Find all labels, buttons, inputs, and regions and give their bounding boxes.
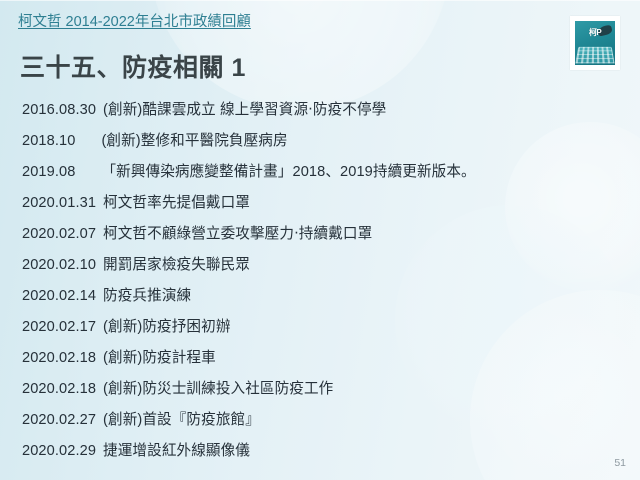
breadcrumb-link[interactable]: 柯文哲 2014-2022年台北市政績回顧 <box>18 13 251 31</box>
logo-image: 柯P <box>575 21 615 65</box>
bullet-text: 柯文哲率先提倡戴口罩 <box>103 195 250 211</box>
bullet-text: (創新)整修和平醫院負壓病房 <box>101 133 287 149</box>
bullet-date: 2020.02.18 <box>22 350 96 366</box>
logo-mark-text: 柯P <box>582 28 608 46</box>
bullet-date: 2018.10 <box>22 133 75 149</box>
bullet-date: 2020.02.14 <box>22 288 96 304</box>
bullet-text: (創新)酷課雲成立 線上學習資源‧防疫不停學 <box>103 102 386 118</box>
bullet-date: 2019.08 <box>22 164 75 180</box>
bullet-date: 2020.02.07 <box>22 226 96 242</box>
bullet-date: 2020.02.17 <box>22 319 96 335</box>
bullet-date: 2020.02.29 <box>22 443 96 459</box>
bullet-item: 2020.02.17(創新)防疫抒困初辦 <box>22 312 582 343</box>
bullet-text: (創新)防疫計程車 <box>103 350 216 366</box>
bullet-item: 2020.02.14防疫兵推演練 <box>22 281 582 312</box>
bullet-text: 「新興傳染病應變整備計畫」2018、2019持續更新版本。 <box>101 164 475 180</box>
bullet-text: (創新)防災士訓練投入社區防疫工作 <box>103 381 333 397</box>
bullet-text: 捷運增設紅外線顯像儀 <box>103 443 250 459</box>
bullet-item: 2020.02.27(創新)首設『防疫旅館』 <box>22 405 582 436</box>
bullet-item: 2020.02.10開罰居家檢疫失聯民眾 <box>22 250 582 281</box>
bullet-list: 2016.08.30(創新)酷課雲成立 線上學習資源‧防疫不停學2018.10(… <box>22 95 582 467</box>
bullet-text: (創新)首設『防疫旅館』 <box>103 412 260 428</box>
keyboard-icon <box>575 47 614 63</box>
bullet-item: 2020.02.07柯文哲不顧綠營立委攻擊壓力‧持續戴口罩 <box>22 219 582 250</box>
bullet-text: 開罰居家檢疫失聯民眾 <box>103 257 250 273</box>
bullet-date: 2020.02.10 <box>22 257 96 273</box>
top-divider <box>0 0 640 1</box>
bullet-date: 2016.08.30 <box>22 102 96 118</box>
page-title: 三十五、防疫相關 1 <box>20 52 246 84</box>
bullet-item: 2020.02.18(創新)防疫計程車 <box>22 343 582 374</box>
bullet-item: 2020.01.31柯文哲率先提倡戴口罩 <box>22 188 582 219</box>
bullet-date: 2020.02.18 <box>22 381 96 397</box>
slide-canvas: 柯文哲 2014-2022年台北市政績回顧 柯P 三十五、防疫相關 1 2016… <box>0 0 640 480</box>
bullet-date: 2020.02.27 <box>22 412 96 428</box>
bullet-item: 2016.08.30(創新)酷課雲成立 線上學習資源‧防疫不停學 <box>22 95 582 126</box>
bullet-item: 2019.08「新興傳染病應變整備計畫」2018、2019持續更新版本。 <box>22 157 582 188</box>
logo-badge: 柯P <box>570 16 620 70</box>
bullet-text: 柯文哲不顧綠營立委攻擊壓力‧持續戴口罩 <box>103 226 372 242</box>
bullet-text: 防疫兵推演練 <box>103 288 191 304</box>
bullet-item: 2020.02.18(創新)防災士訓練投入社區防疫工作 <box>22 374 582 405</box>
bullet-item: 2020.02.29捷運增設紅外線顯像儀 <box>22 436 582 467</box>
bullet-item: 2018.10(創新)整修和平醫院負壓病房 <box>22 126 582 157</box>
page-number: 51 <box>614 457 626 469</box>
bullet-text: (創新)防疫抒困初辦 <box>103 319 230 335</box>
bullet-date: 2020.01.31 <box>22 195 96 211</box>
